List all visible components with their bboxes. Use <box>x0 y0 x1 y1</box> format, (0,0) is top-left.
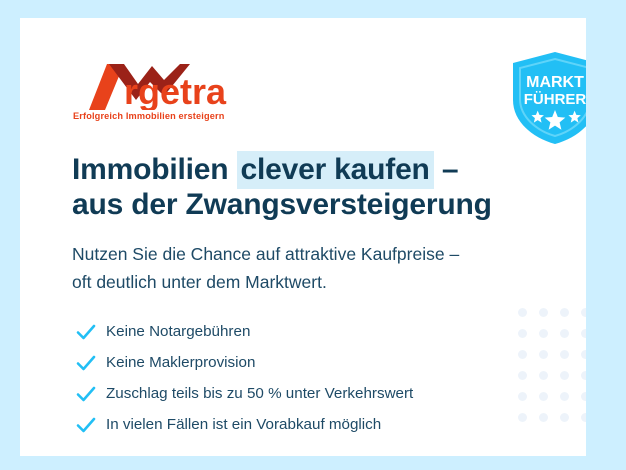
headline-highlight: clever kaufen <box>237 151 434 189</box>
list-item-label: Zuschlag teils bis zu 50 % unter Verkehr… <box>106 384 413 403</box>
decorative-dot <box>581 329 586 338</box>
decorative-dot <box>518 329 527 338</box>
badge-line2-text: FÜHRER <box>524 91 586 108</box>
decorative-dot <box>581 350 586 359</box>
decorative-dot <box>518 392 527 401</box>
subheading: Nutzen Sie die Chance auf attraktive Kau… <box>72 240 542 296</box>
decorative-dot <box>539 308 548 317</box>
check-icon <box>74 320 98 344</box>
dot-pattern-decoration <box>518 308 586 456</box>
decorative-dot <box>581 371 586 380</box>
logo-tagline: Erfolgreich Immobilien ersteigern <box>73 111 224 121</box>
decorative-dot <box>560 413 569 422</box>
list-item-label: In vielen Fällen ist ein Vorabkauf mögli… <box>106 415 381 434</box>
headline-line2: aus der Zwangsversteigerung <box>72 187 552 222</box>
decorative-dot <box>581 392 586 401</box>
list-item: Keine Maklerprovision <box>74 347 514 378</box>
decorative-dot <box>539 392 548 401</box>
check-icon <box>74 351 98 375</box>
subheading-line2: oft deutlich unter dem Marktwert. <box>72 268 542 296</box>
headline-part2: – <box>434 153 459 186</box>
decorative-dot <box>581 413 586 422</box>
decorative-dot <box>518 308 527 317</box>
decorative-dot <box>539 350 548 359</box>
decorative-dot <box>581 308 586 317</box>
list-item-label: Keine Maklerprovision <box>106 353 255 372</box>
benefits-checklist: Keine Notargebühren Keine Maklerprovisio… <box>74 316 514 440</box>
decorative-dot <box>560 308 569 317</box>
promo-banner: rgetra Erfolgreich Immobilien ersteigern… <box>0 0 626 470</box>
svg-text:rgetra: rgetra <box>124 71 227 110</box>
decorative-dot <box>518 413 527 422</box>
markt-fuehrer-badge: MARKT FÜHRER <box>509 50 586 146</box>
list-item-label: Keine Notargebühren <box>106 322 250 341</box>
decorative-dot <box>518 350 527 359</box>
decorative-dot <box>560 371 569 380</box>
decorative-dot <box>539 371 548 380</box>
argetra-logo[interactable]: rgetra Erfolgreich Immobilien ersteigern <box>72 62 252 130</box>
decorative-dot <box>560 329 569 338</box>
decorative-dot <box>560 392 569 401</box>
list-item: In vielen Fällen ist ein Vorabkauf mögli… <box>74 409 514 440</box>
argetra-logo-mark: rgetra <box>72 62 257 110</box>
decorative-dot <box>539 329 548 338</box>
check-icon <box>74 413 98 437</box>
decorative-dot <box>539 413 548 422</box>
subheading-line1: Nutzen Sie die Chance auf attraktive Kau… <box>72 240 542 268</box>
page-title: Immobilien clever kaufen – aus der Zwang… <box>72 152 552 222</box>
decorative-dot <box>518 371 527 380</box>
headline-part1: Immobilien <box>72 153 237 186</box>
badge-line1-text: MARKT <box>526 74 584 91</box>
decorative-dot <box>560 350 569 359</box>
banner-card: rgetra Erfolgreich Immobilien ersteigern… <box>20 18 586 456</box>
list-item: Zuschlag teils bis zu 50 % unter Verkehr… <box>74 378 514 409</box>
check-icon <box>74 382 98 406</box>
list-item: Keine Notargebühren <box>74 316 514 347</box>
